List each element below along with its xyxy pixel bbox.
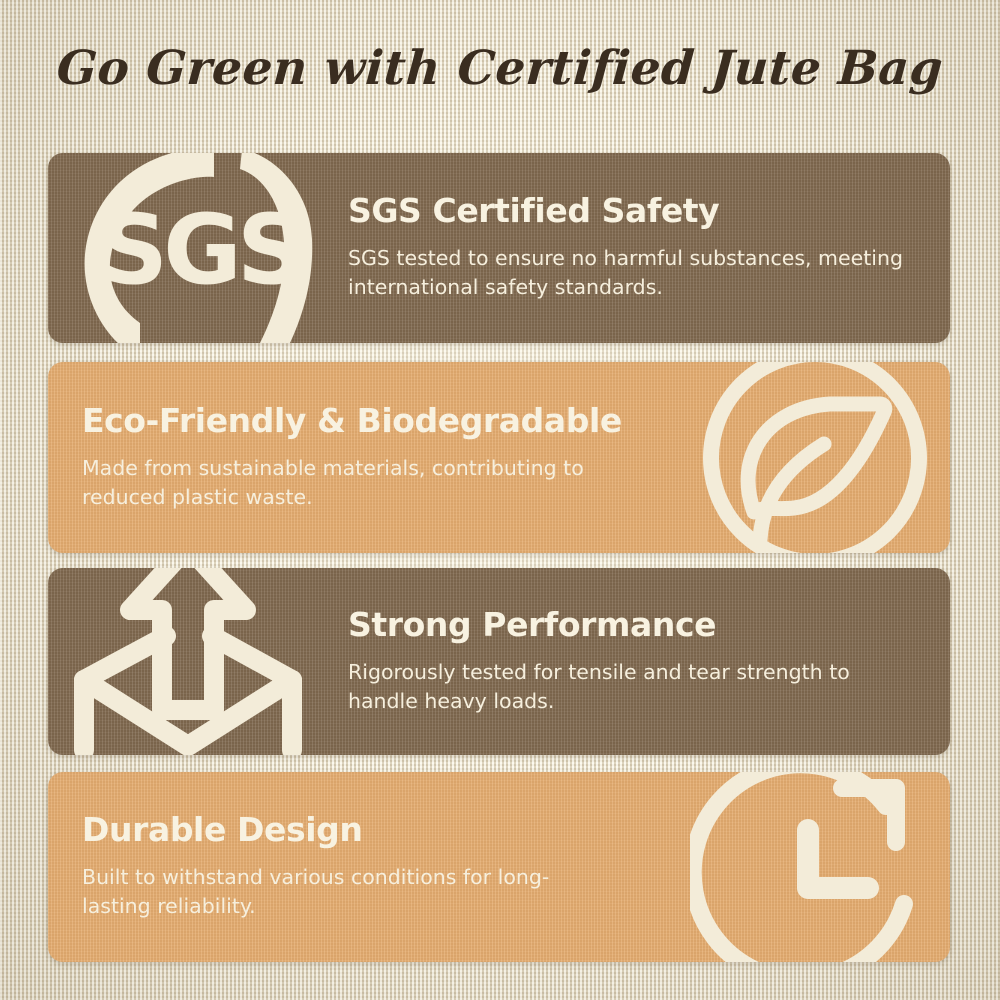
card-heading: SGS Certified Safety xyxy=(348,193,922,230)
sgs-logo-text: SGS xyxy=(99,194,301,306)
leaf-in-circle-icon xyxy=(690,362,940,553)
card-text-block: Durable Design Built to withstand variou… xyxy=(48,812,680,921)
feature-card-eco-friendly-biodegradable[interactable]: Eco-Friendly & Biodegradable Made from s… xyxy=(48,362,950,553)
sgs-certification-logo: SGS xyxy=(64,153,332,343)
icon-slot: SGS xyxy=(48,153,348,343)
card-body-text: SGS tested to ensure no harmful substanc… xyxy=(348,244,908,302)
clock-rotate-icon xyxy=(690,772,940,962)
card-heading: Strong Performance xyxy=(348,607,922,644)
icon-slot xyxy=(680,362,950,553)
card-text-block: Strong Performance Rigorously tested for… xyxy=(348,607,950,716)
card-text-block: Eco-Friendly & Biodegradable Made from s… xyxy=(48,403,680,512)
card-body-text: Made from sustainable materials, contrib… xyxy=(82,454,602,512)
page-title: Go Green with Certified Jute Bag xyxy=(55,44,944,93)
icon-slot xyxy=(48,568,348,755)
card-heading: Eco-Friendly & Biodegradable xyxy=(82,403,672,440)
arrow-up-from-box-icon xyxy=(62,568,334,755)
icon-slot xyxy=(680,772,950,962)
card-body-text: Rigorously tested for tensile and tear s… xyxy=(348,658,908,716)
card-heading: Durable Design xyxy=(82,812,672,849)
card-text-block: SGS Certified Safety SGS tested to ensur… xyxy=(348,193,950,302)
infographic-page: Go Green with Certified Jute Bag SGS SGS… xyxy=(0,0,1000,1000)
feature-card-strong-performance[interactable]: Strong Performance Rigorously tested for… xyxy=(48,568,950,755)
page-title-container: Go Green with Certified Jute Bag xyxy=(0,44,1000,93)
feature-card-durable-design[interactable]: Durable Design Built to withstand variou… xyxy=(48,772,950,962)
card-body-text: Built to withstand various conditions fo… xyxy=(82,863,602,921)
feature-card-sgs-certified-safety[interactable]: SGS SGS Certified Safety SGS tested to e… xyxy=(48,153,950,343)
